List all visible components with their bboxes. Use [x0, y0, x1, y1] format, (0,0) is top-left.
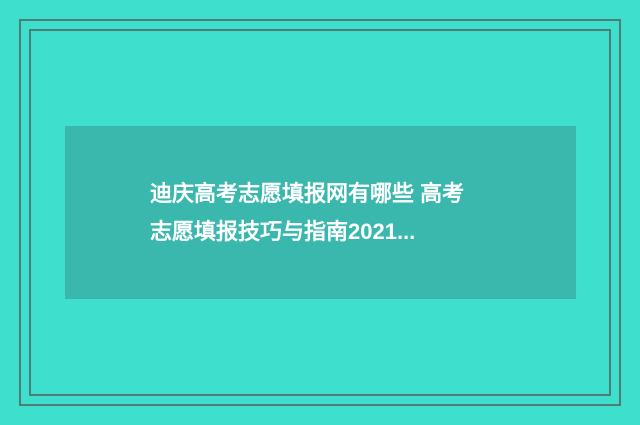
banner-canvas: 迪庆高考志愿填报网有哪些 高考 志愿填报技巧与指南2021... [0, 0, 640, 425]
headline-panel: 迪庆高考志愿填报网有哪些 高考 志愿填报技巧与指南2021... [65, 126, 576, 299]
headline-text: 迪庆高考志愿填报网有哪些 高考 志愿填报技巧与指南2021... [65, 175, 576, 251]
